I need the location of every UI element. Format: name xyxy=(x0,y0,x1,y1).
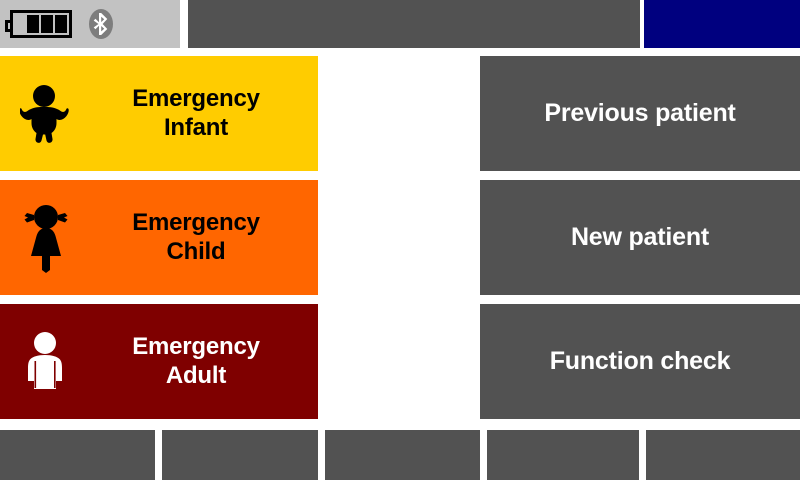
emergency-adult-label: Emergency Adult xyxy=(92,333,318,390)
emergency-child-line1: Emergency xyxy=(132,209,260,236)
infant-icon xyxy=(0,56,92,171)
emergency-infant-label: Emergency Infant xyxy=(92,85,318,142)
bottom-softkey-bar xyxy=(0,430,800,480)
battery-segment xyxy=(27,15,41,33)
top-accent-panel xyxy=(644,0,800,48)
child-icon xyxy=(0,180,92,295)
emergency-child-line2: Child xyxy=(92,238,300,266)
emergency-child-label: Emergency Child xyxy=(92,209,318,266)
status-bar xyxy=(0,0,180,48)
softkey-5[interactable] xyxy=(646,430,800,480)
previous-patient-label: Previous patient xyxy=(544,99,735,128)
battery-segment xyxy=(55,15,67,33)
battery-empty-portion xyxy=(15,15,27,33)
top-info-panel xyxy=(188,0,640,48)
function-check-button[interactable]: Function check xyxy=(480,304,800,419)
emergency-infant-button[interactable]: Emergency Infant xyxy=(0,56,318,171)
adult-icon xyxy=(0,304,92,419)
function-check-label: Function check xyxy=(550,347,731,376)
emergency-infant-line2: Infant xyxy=(92,114,300,142)
softkey-3[interactable] xyxy=(325,430,480,480)
bluetooth-icon xyxy=(88,8,114,40)
emergency-infant-line1: Emergency xyxy=(132,85,260,112)
softkey-4[interactable] xyxy=(487,430,639,480)
softkey-2[interactable] xyxy=(162,430,318,480)
emergency-adult-line1: Emergency xyxy=(132,333,260,360)
previous-patient-button[interactable]: Previous patient xyxy=(480,56,800,171)
battery-charge-portion xyxy=(27,15,67,33)
emergency-adult-button[interactable]: Emergency Adult xyxy=(0,304,318,419)
softkey-1[interactable] xyxy=(0,430,155,480)
emergency-child-button[interactable]: Emergency Child xyxy=(0,180,318,295)
new-patient-label: New patient xyxy=(571,223,709,252)
battery-segment xyxy=(41,15,55,33)
new-patient-button[interactable]: New patient xyxy=(480,180,800,295)
emergency-adult-line2: Adult xyxy=(92,362,300,390)
battery-icon xyxy=(10,10,72,38)
